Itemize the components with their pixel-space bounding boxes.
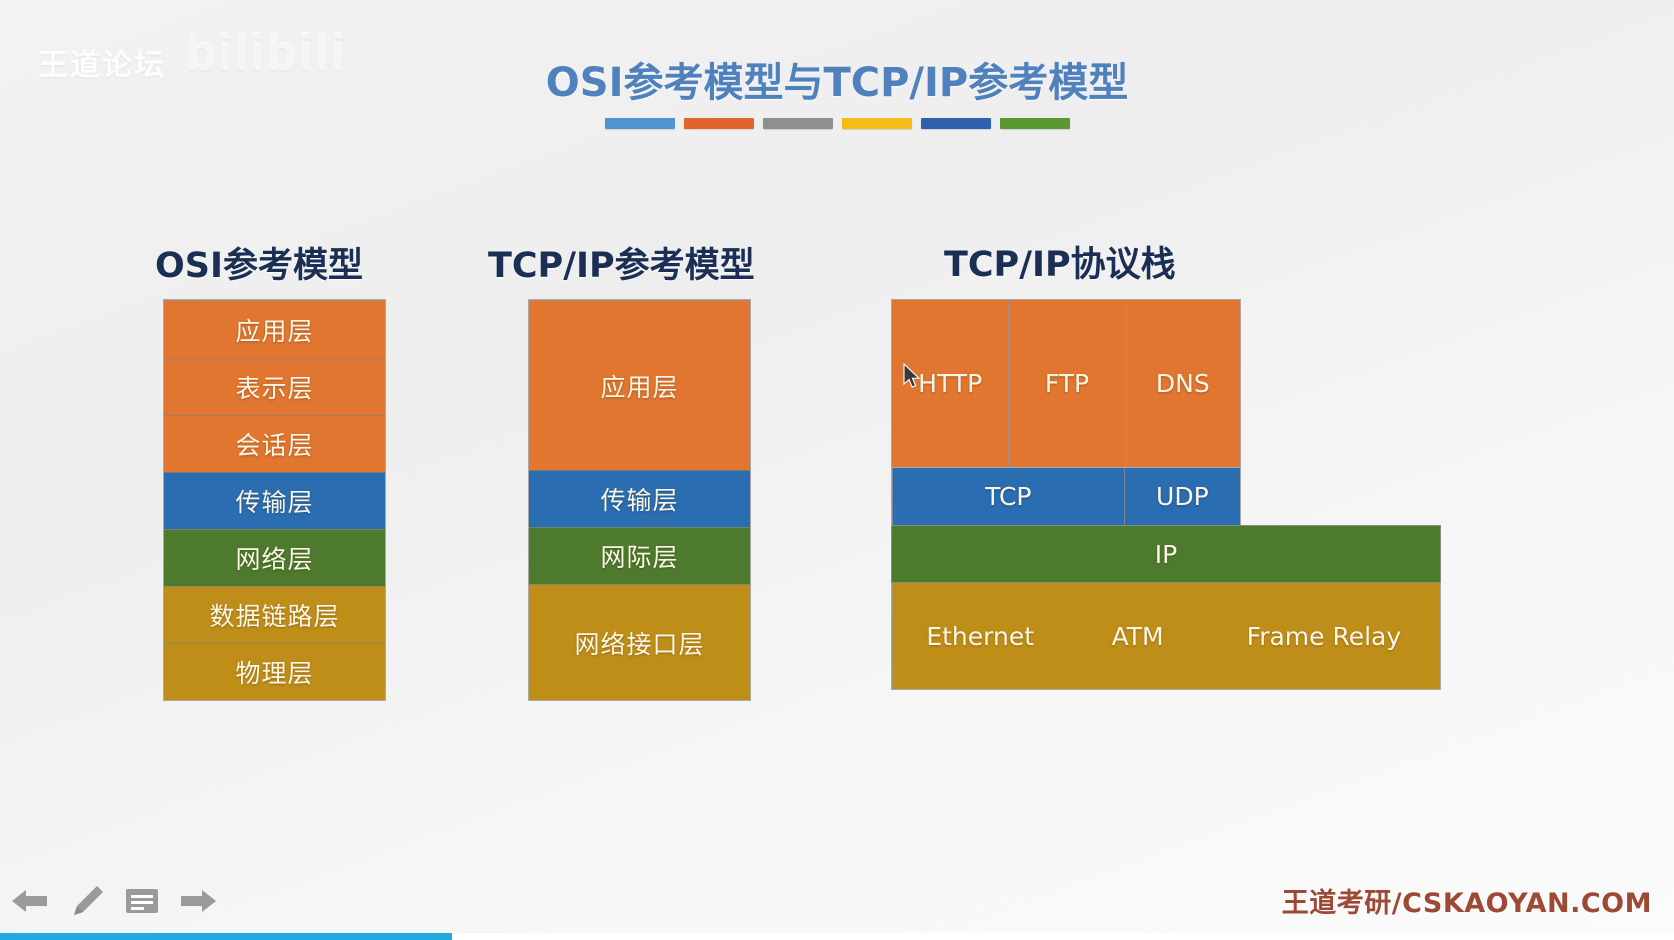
previous-slide-arrow-icon[interactable] [10, 886, 50, 916]
protocol-stack-column-title: TCP/IP协议栈 [944, 236, 1176, 287]
protocol-link-cell-ethernet: Ethernet [892, 583, 1067, 689]
protocol-stack-diagram: HTTPFTPDNS TCPUDP IP EthernetATMFrame Re… [891, 299, 1441, 690]
title-underline-rule [0, 118, 1674, 129]
osi-layer-1: 应用层 [164, 300, 385, 358]
protocol-link-row: EthernetATMFrame Relay [891, 583, 1441, 690]
title-rule-segment-4 [842, 118, 912, 129]
tcpip-model-layer-1: 应用层 [529, 300, 750, 470]
title-rule-segment-3 [763, 118, 833, 129]
title-rule-segment-1 [605, 118, 675, 129]
tcpip-model-layer-2: 传输层 [529, 470, 750, 527]
tcpip-model-layer-stack: 应用层传输层网际层网络接口层 [528, 299, 751, 701]
protocol-transport-cell-udp: UDP [1124, 468, 1240, 525]
protocol-transport-cell-tcp: TCP [892, 468, 1124, 525]
progress-fill [0, 933, 452, 940]
protocol-internet-row: IP [891, 525, 1441, 583]
osi-layer-4: 传输层 [164, 472, 385, 529]
protocol-transport-row: TCPUDP [891, 468, 1241, 525]
protocol-application-cell-ftp: FTP [1008, 300, 1124, 467]
protocol-link-cell-frame-relay: Frame Relay [1207, 583, 1440, 689]
tcpip-model-column-title: TCP/IP参考模型 [488, 237, 755, 288]
osi-layer-5: 网络层 [164, 529, 385, 586]
title-rule-segment-5 [921, 118, 991, 129]
brand-footer: 王道考研/CSKAOYAN.COM [1282, 881, 1652, 920]
notes-icon[interactable] [124, 886, 160, 916]
protocol-link-cell-atm: ATM [1067, 583, 1206, 689]
progress-track[interactable] [0, 933, 1674, 940]
osi-layer-2: 表示层 [164, 358, 385, 415]
tcpip-model-layer-4: 网络接口层 [529, 584, 750, 700]
osi-layer-7: 物理层 [164, 643, 385, 700]
mouse-cursor [903, 363, 923, 396]
osi-column-title: OSI参考模型 [155, 237, 363, 288]
pencil-icon[interactable] [68, 884, 106, 918]
osi-layer-6: 数据链路层 [164, 586, 385, 643]
title-rule-segment-6 [1000, 118, 1070, 129]
osi-layer-stack: 应用层表示层会话层传输层网络层数据链路层物理层 [163, 299, 386, 701]
tcpip-model-layer-3: 网际层 [529, 527, 750, 584]
next-slide-arrow-icon[interactable] [178, 886, 218, 916]
protocol-application-cell-dns: DNS [1125, 300, 1240, 467]
slide-toolbar[interactable] [10, 884, 218, 918]
osi-layer-3: 会话层 [164, 415, 385, 472]
title-rule-segment-2 [684, 118, 754, 129]
slide-canvas: 王道论坛 bilibili OSI参考模型与TCP/IP参考模型 OSI参考模型… [0, 0, 1674, 940]
page-title: OSI参考模型与TCP/IP参考模型 [0, 50, 1674, 108]
protocol-application-row: HTTPFTPDNS [891, 299, 1241, 468]
